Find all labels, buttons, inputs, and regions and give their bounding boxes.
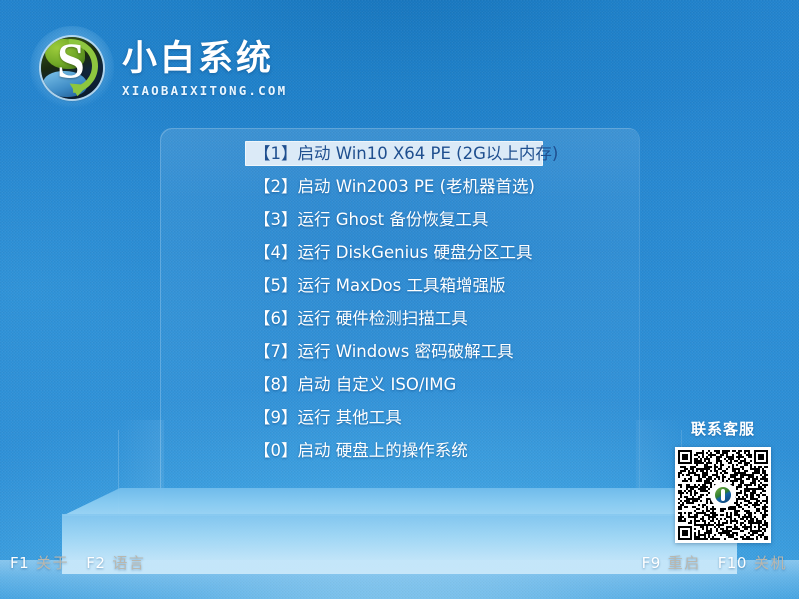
qr-center-logo-icon <box>712 484 734 506</box>
qr-code-icon[interactable] <box>675 447 771 543</box>
boot-menu-screen: S 小白系统 XIAOBAIXITONG.COM 【1】启动 Win10 X64… <box>0 0 799 599</box>
boot-menu-item-7[interactable]: 【7】运行 Windows 密码破解工具 <box>245 339 575 364</box>
hotkey-label-f9: 重启 <box>668 552 701 573</box>
hotkey-label-f10: 关机 <box>754 552 787 573</box>
boot-menu-item-5[interactable]: 【5】运行 MaxDos 工具箱增强版 <box>245 273 575 298</box>
hotkey-label-f1: 关于 <box>36 552 69 573</box>
hotkey-key-f9: F9 <box>642 554 661 572</box>
brand-logo: S 小白系统 XIAOBAIXITONG.COM <box>34 26 274 110</box>
boot-menu-item-0[interactable]: 【0】启动 硬盘上的操作系统 <box>245 438 575 463</box>
hotkey-key-f1: F1 <box>10 554 29 572</box>
hotkeys-left: F1关于F2语言 <box>10 552 145 573</box>
contact-support: 联系客服 <box>672 418 774 543</box>
contact-support-title: 联系客服 <box>672 418 774 439</box>
hotkeys-right: F9重启F10关机 <box>642 552 787 573</box>
boot-menu-item-1[interactable]: 【1】启动 Win10 X64 PE (2G以上内存) <box>245 141 543 166</box>
hotkey-key-f2: F2 <box>86 554 105 572</box>
stage-top-surface <box>62 488 737 516</box>
boot-menu-item-4[interactable]: 【4】运行 DiskGenius 硬盘分区工具 <box>245 240 575 265</box>
brand-domain: XIAOBAIXITONG.COM <box>122 83 287 98</box>
boot-menu-list[interactable]: 【1】启动 Win10 X64 PE (2G以上内存)【2】启动 Win2003… <box>245 141 575 471</box>
brand-name: 小白系统 <box>122 39 287 79</box>
boot-menu-item-8[interactable]: 【8】启动 自定义 ISO/IMG <box>245 372 575 397</box>
hotkey-label-f2: 语言 <box>112 552 145 573</box>
boot-menu-item-3[interactable]: 【3】运行 Ghost 备份恢复工具 <box>245 207 575 232</box>
boot-menu-item-2[interactable]: 【2】启动 Win2003 PE (老机器首选) <box>245 174 575 199</box>
hotkey-key-f10: F10 <box>718 554 747 572</box>
boot-menu-item-6[interactable]: 【6】运行 硬件检测扫描工具 <box>245 306 575 331</box>
boot-menu-item-9[interactable]: 【9】运行 其他工具 <box>245 405 575 430</box>
recycle-globe-logo-icon: S <box>34 30 110 106</box>
